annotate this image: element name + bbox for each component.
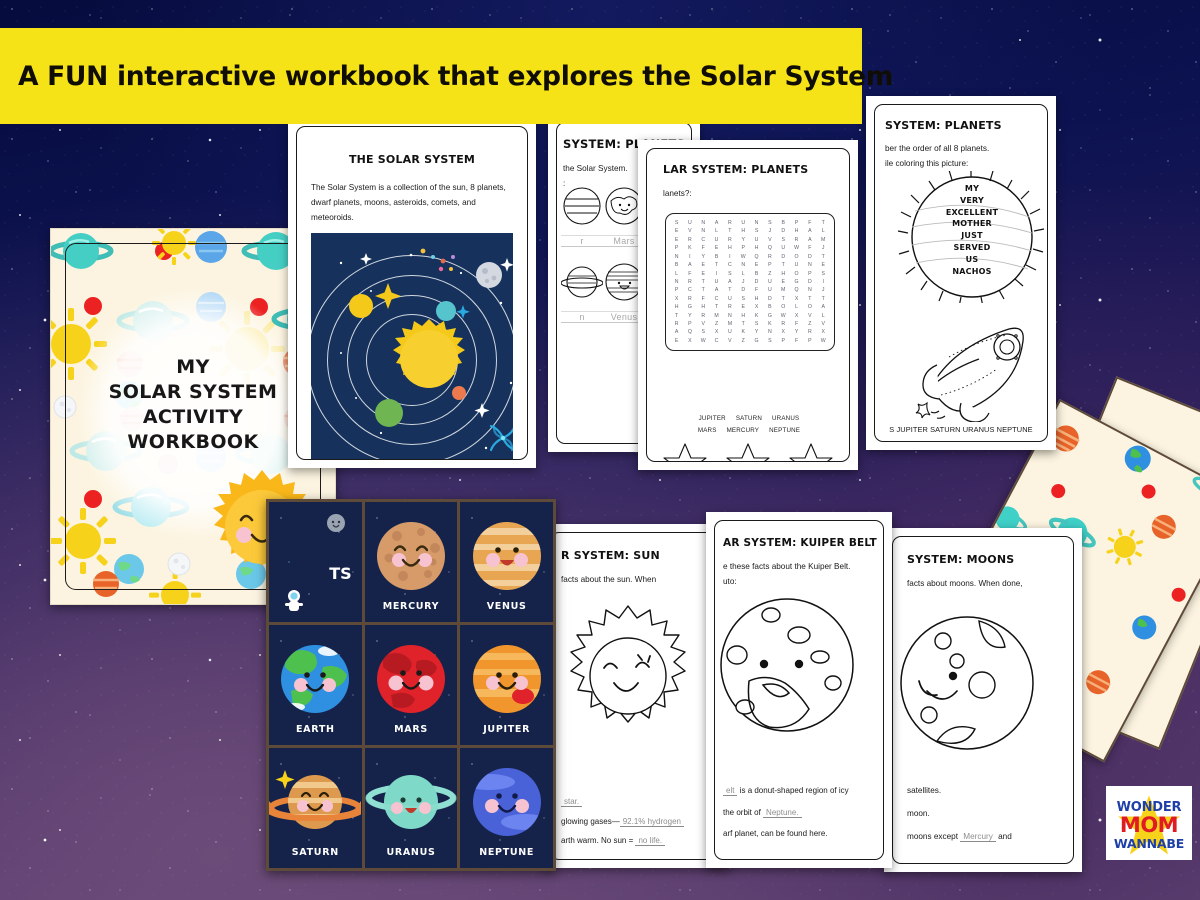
word-search-letter[interactable]: H: [737, 312, 750, 320]
word-search-letter[interactable]: S: [750, 320, 763, 328]
word-search-letter[interactable]: D: [803, 253, 816, 261]
word-search-letter[interactable]: F: [697, 295, 710, 303]
planet-cards-partial-title: TS: [329, 564, 351, 583]
wonder-mom-wannabe-logo[interactable]: WONDER MOM WANNABE: [1106, 786, 1192, 860]
word-search-letter[interactable]: Z: [803, 320, 816, 328]
word-search-letter[interactable]: D: [803, 278, 816, 286]
word-bank-word: NEPTUNE: [769, 427, 800, 434]
word-search-letter[interactable]: C: [697, 236, 710, 244]
word-search-letter[interactable]: S: [737, 295, 750, 303]
word-search-letter[interactable]: Y: [683, 312, 696, 320]
planet-card-neptune[interactable]: NEPTUNE: [460, 748, 553, 868]
word-search-letter[interactable]: P: [737, 244, 750, 252]
word-search-letter[interactable]: U: [723, 295, 736, 303]
trace-cell[interactable]: r: [561, 185, 603, 247]
worksheet-sun[interactable]: R SYSTEM: SUN facts about the sun. When …: [542, 524, 730, 868]
kuiper-fact-1: elt is a donut-shaped region of icy: [723, 780, 877, 802]
planet-card-saturn[interactable]: SATURN: [269, 748, 362, 868]
word-search-letter[interactable]: W: [817, 337, 830, 345]
worksheet-moons-facts: satellites. moon. moons except Mercury a…: [907, 780, 1065, 849]
worksheet-sun-frame: R SYSTEM: SUN facts about the sun. When …: [550, 532, 722, 860]
word-search-letter[interactable]: I: [817, 278, 830, 286]
saturn-planet-icon: [269, 764, 361, 840]
word-search-letter[interactable]: N: [697, 219, 710, 227]
worksheet-solar-system-title: THE SOLAR SYSTEM: [297, 153, 527, 166]
logo-line-mom: MOM: [1106, 813, 1192, 837]
worksheet-word-search-frame: LAR SYSTEM: PLANETS lanets?: SUNARUNSBPF…: [646, 148, 850, 462]
worksheet-moons-instruction: facts about moons. When done,: [893, 566, 1073, 591]
word-search-letter[interactable]: P: [777, 337, 790, 345]
planet-card-label: MERCURY: [365, 601, 458, 612]
word-search-letter[interactable]: F: [803, 244, 816, 252]
word-search-box[interactable]: SUNARUNSBPFTEVNLTHSJDHALERCURYUVSRAMPKFE…: [665, 213, 835, 351]
word-search-letter[interactable]: T: [710, 261, 723, 269]
word-search-letter[interactable]: M: [817, 236, 830, 244]
word-search-letter[interactable]: M: [777, 286, 790, 294]
planet-cards-title-cell: TS: [269, 502, 362, 622]
mnemonic-word: US: [897, 254, 1047, 266]
word-search-letter[interactable]: H: [750, 295, 763, 303]
word-search-letter[interactable]: L: [670, 270, 683, 278]
worksheet-moons-title: SYSTEM: MOONS: [893, 553, 1073, 566]
word-search-letter[interactable]: U: [710, 236, 723, 244]
word-search-letter[interactable]: Y: [697, 253, 710, 261]
word-search-letter[interactable]: I: [710, 270, 723, 278]
word-search-letter[interactable]: A: [723, 278, 736, 286]
word-search-letter[interactable]: H: [750, 244, 763, 252]
word-search-letter[interactable]: N: [737, 261, 750, 269]
word-search-letter[interactable]: N: [723, 312, 736, 320]
word-search-letter[interactable]: N: [803, 261, 816, 269]
word-search-letter[interactable]: Y: [750, 328, 763, 336]
word-search-letter[interactable]: M: [723, 320, 736, 328]
moons-fact-3-blank[interactable]: Mercury: [960, 832, 996, 842]
worksheet-sun-instruction: facts about the sun. When: [551, 562, 721, 587]
word-search-letter[interactable]: F: [790, 337, 803, 345]
word-search-letter[interactable]: C: [683, 286, 696, 294]
moon-icon: [325, 512, 347, 534]
word-search-letter[interactable]: X: [817, 328, 830, 336]
word-search-letter[interactable]: S: [777, 236, 790, 244]
word-search-letter[interactable]: S: [817, 270, 830, 278]
word-search-letter[interactable]: K: [737, 328, 750, 336]
word-search-letter[interactable]: R: [723, 236, 736, 244]
word-search-letter[interactable]: E: [697, 261, 710, 269]
word-search-letter[interactable]: S: [723, 270, 736, 278]
word-search-letter[interactable]: R: [763, 253, 776, 261]
word-search-letter[interactable]: V: [763, 236, 776, 244]
word-search-letter[interactable]: H: [790, 227, 803, 235]
word-search-letter[interactable]: T: [817, 219, 830, 227]
worksheet-sun-title: R SYSTEM: SUN: [551, 549, 721, 562]
word-search-letter[interactable]: M: [710, 312, 723, 320]
star-icon[interactable]: [726, 441, 770, 462]
word-search-letter[interactable]: T: [803, 295, 816, 303]
word-search-letter[interactable]: T: [817, 295, 830, 303]
word-search-letter[interactable]: Y: [737, 236, 750, 244]
word-bank-word: MERCURY: [727, 427, 760, 434]
word-search-letter[interactable]: B: [710, 253, 723, 261]
mnemonic-word: SERVED: [897, 242, 1047, 254]
star-rating-row[interactable]: [647, 441, 849, 462]
planet-card-label: EARTH: [269, 724, 362, 735]
planet-cards-grid[interactable]: MERCURY VENUS: [266, 499, 556, 871]
worksheet-mnemonic-title: SYSTEM: PLANETS: [875, 119, 1047, 132]
word-search-letter[interactable]: T: [697, 286, 710, 294]
kuiper-fact-1-blank[interactable]: elt: [723, 786, 737, 796]
word-search-letter[interactable]: C: [710, 337, 723, 345]
word-search-letter[interactable]: U: [750, 236, 763, 244]
word-search-letter[interactable]: S: [750, 227, 763, 235]
word-search-letter[interactable]: R: [683, 236, 696, 244]
word-search-letter[interactable]: V: [683, 227, 696, 235]
word-search-grid[interactable]: SUNARUNSBPFTEVNLTHSJDHALERCURYUVSRAMPKFE…: [670, 219, 830, 345]
word-search-letter[interactable]: C: [723, 261, 736, 269]
word-search-letter[interactable]: R: [723, 219, 736, 227]
word-search-letter[interactable]: R: [803, 328, 816, 336]
word-search-letter[interactable]: I: [723, 253, 736, 261]
word-search-letter[interactable]: P: [670, 244, 683, 252]
planet-card-mars[interactable]: MARS: [365, 625, 458, 745]
word-search-letter[interactable]: A: [803, 227, 816, 235]
word-search-letter[interactable]: J: [817, 286, 830, 294]
mnemonic-planet-illustration: MY VERY EXCELLENT MOTHER JUST SERVED US …: [897, 171, 1047, 303]
word-search-letter[interactable]: S: [697, 328, 710, 336]
word-search-letter[interactable]: F: [683, 270, 696, 278]
headline-banner: A FUN interactive workbook that explores…: [0, 28, 862, 124]
word-search-letter[interactable]: P: [670, 286, 683, 294]
word-search-letter[interactable]: B: [777, 219, 790, 227]
word-search-letter[interactable]: X: [790, 295, 803, 303]
kuiper-fact-2-blank[interactable]: Neptune.: [763, 808, 801, 818]
planet-card-label: SATURN: [269, 847, 362, 858]
word-search-letter[interactable]: H: [670, 303, 683, 311]
moons-fact-3: moons except Mercury and: [907, 826, 1065, 849]
word-search-letter[interactable]: X: [750, 303, 763, 311]
kuiper-fact-2: the orbit of Neptune.: [723, 802, 877, 824]
word-search-letter[interactable]: J: [737, 278, 750, 286]
word-bank-word: JUPITER: [699, 415, 726, 422]
word-search-letter[interactable]: G: [750, 337, 763, 345]
word-search-letter[interactable]: D: [777, 227, 790, 235]
planet-card-jupiter[interactable]: JUPITER: [460, 625, 553, 745]
word-search-letter[interactable]: E: [670, 236, 683, 244]
word-search-letter[interactable]: D: [737, 286, 750, 294]
word-search-letter[interactable]: J: [817, 244, 830, 252]
word-search-letter[interactable]: J: [763, 227, 776, 235]
word-search-letter[interactable]: E: [710, 244, 723, 252]
astronaut-icon: [283, 588, 305, 614]
trace-label: r: [561, 235, 603, 247]
word-search-letter[interactable]: X: [777, 328, 790, 336]
word-search-letter[interactable]: H: [697, 303, 710, 311]
word-search-letter[interactable]: X: [710, 328, 723, 336]
word-search-letter[interactable]: O: [790, 270, 803, 278]
word-search-letter[interactable]: A: [710, 219, 723, 227]
word-search-letter[interactable]: B: [763, 303, 776, 311]
planet-card-label: JUPITER: [460, 724, 553, 735]
worksheet-solar-system-paragraph-1: The Solar System is a collection of the …: [311, 180, 513, 226]
mnemonic-word: EXCELLENT: [897, 207, 1047, 219]
word-search-letter[interactable]: U: [763, 278, 776, 286]
word-search-letter[interactable]: L: [710, 227, 723, 235]
word-bank-row-2: MARSMERCURYNEPTUNE: [657, 425, 841, 437]
sun-fact-2-blank[interactable]: 92.1% hydrogen: [620, 817, 684, 827]
word-search-letter[interactable]: K: [763, 320, 776, 328]
logo-line-wannabe: WANNABE: [1106, 836, 1192, 851]
word-search-letter[interactable]: Q: [750, 253, 763, 261]
word-search-letter[interactable]: N: [763, 328, 776, 336]
word-search-letter[interactable]: R: [670, 320, 683, 328]
rocket-icon: [901, 317, 1048, 422]
word-search-letter[interactable]: O: [790, 253, 803, 261]
jupiter-planet-icon: [469, 641, 545, 717]
word-search-letter[interactable]: R: [697, 312, 710, 320]
word-search-letter[interactable]: Q: [683, 328, 696, 336]
sun-fact-2-prefix: glowing gases—: [561, 817, 620, 826]
word-bank-word: MARS: [698, 427, 717, 434]
earth-planet-icon: [277, 641, 353, 717]
word-search-letter[interactable]: C: [710, 295, 723, 303]
word-search-letter[interactable]: D: [777, 253, 790, 261]
uranus-planet-icon: [365, 764, 457, 840]
planet-card-mercury[interactable]: MERCURY: [365, 502, 458, 622]
word-search-word-bank: JUPITERSATURNURANUS MARSMERCURYNEPTUNE: [657, 413, 841, 437]
word-search-letter[interactable]: T: [670, 312, 683, 320]
word-search-letter[interactable]: A: [683, 261, 696, 269]
saturn-outline-icon: [561, 261, 603, 303]
word-search-letter[interactable]: A: [710, 286, 723, 294]
kuiper-fact-1-text: is a donut-shaped region of icy: [740, 786, 849, 795]
mars-planet-icon: [373, 641, 449, 717]
word-search-letter[interactable]: P: [683, 320, 696, 328]
worksheet-kuiper-belt[interactable]: AR SYSTEM: KUIPER BELT e these facts abo…: [706, 512, 892, 868]
word-search-letter[interactable]: N: [670, 278, 683, 286]
word-search-letter[interactable]: S: [670, 219, 683, 227]
trace-cell[interactable]: n: [561, 261, 603, 323]
word-search-letter[interactable]: E: [750, 261, 763, 269]
word-search-letter[interactable]: P: [763, 261, 776, 269]
planet-card-label: URANUS: [365, 847, 458, 858]
word-search-letter[interactable]: S: [763, 337, 776, 345]
word-search-letter[interactable]: R: [683, 278, 696, 286]
solar-illustration-bodies: [311, 233, 513, 459]
word-search-letter[interactable]: Z: [710, 320, 723, 328]
planet-outline-icon: [561, 185, 603, 227]
word-search-letter[interactable]: R: [723, 303, 736, 311]
word-search-letter[interactable]: G: [763, 312, 776, 320]
word-search-letter[interactable]: A: [670, 328, 683, 336]
word-search-letter[interactable]: N: [697, 227, 710, 235]
moons-fact-3-prefix: moons except: [907, 832, 958, 841]
word-search-letter[interactable]: B: [670, 261, 683, 269]
word-search-letter[interactable]: W: [790, 244, 803, 252]
word-search-letter[interactable]: U: [723, 328, 736, 336]
worksheet-mnemonic-frame: SYSTEM: PLANETS ber the order of all 8 p…: [874, 104, 1048, 442]
word-search-letter[interactable]: X: [683, 337, 696, 345]
word-search-letter[interactable]: L: [817, 227, 830, 235]
worksheet-mnemonic-footer: S JUPITER SATURN URANUS NEPTUNE: [875, 425, 1047, 434]
smiling-moon-icon: [892, 603, 1052, 763]
worksheet-sun-facts: star. glowing gases—92.1% hydrogen arth …: [561, 792, 711, 851]
word-search-letter[interactable]: N: [803, 286, 816, 294]
word-search-letter[interactable]: U: [737, 219, 750, 227]
word-search-letter[interactable]: W: [777, 312, 790, 320]
word-search-letter[interactable]: K: [750, 312, 763, 320]
word-search-letter[interactable]: G: [790, 278, 803, 286]
word-search-letter[interactable]: D: [763, 295, 776, 303]
word-search-letter[interactable]: R: [790, 236, 803, 244]
mnemonic-word: MOTHER: [897, 218, 1047, 230]
word-search-letter[interactable]: V: [803, 312, 816, 320]
worksheet-kuiper-instruction-1: e these facts about the Kuiper Belt.: [715, 549, 883, 574]
word-search-letter[interactable]: E: [817, 261, 830, 269]
mercury-planet-icon: [373, 518, 449, 594]
word-search-letter[interactable]: H: [723, 244, 736, 252]
word-search-letter[interactable]: L: [817, 312, 830, 320]
word-search-letter[interactable]: H: [777, 270, 790, 278]
word-search-letter[interactable]: F: [750, 286, 763, 294]
screenshot-stage: A FUN interactive workbook that explores…: [0, 0, 1200, 900]
word-search-letter[interactable]: A: [803, 236, 816, 244]
word-search-letter[interactable]: X: [790, 312, 803, 320]
word-search-letter[interactable]: T: [723, 227, 736, 235]
word-search-letter[interactable]: F: [790, 320, 803, 328]
worksheet-mnemonic[interactable]: SYSTEM: PLANETS ber the order of all 8 p…: [866, 96, 1056, 450]
word-search-letter[interactable]: U: [710, 278, 723, 286]
sun-fact-1: star.: [561, 792, 711, 812]
worksheet-solar-system-frame: THE SOLAR SYSTEM The Solar System is a c…: [296, 126, 528, 460]
planet-card-label: NEPTUNE: [460, 847, 553, 858]
kuiper-fact-3: arf planet, can be found here.: [723, 823, 877, 845]
word-search-letter[interactable]: E: [697, 270, 710, 278]
worksheet-word-search-instruction: lanets?:: [647, 176, 849, 201]
word-search-letter[interactable]: I: [683, 253, 696, 261]
word-search-letter[interactable]: V: [723, 337, 736, 345]
word-search-letter[interactable]: U: [763, 286, 776, 294]
mnemonic-word: VERY: [897, 195, 1047, 207]
word-bank-word: URANUS: [772, 415, 799, 422]
planet-card-venus[interactable]: VENUS: [460, 502, 553, 622]
worksheet-solar-system[interactable]: THE SOLAR SYSTEM The Solar System is a c…: [288, 118, 536, 468]
word-search-letter[interactable]: R: [777, 320, 790, 328]
word-search-letter[interactable]: U: [777, 244, 790, 252]
worksheet-mnemonic-instruction-2: ile coloring this picture:: [875, 156, 1047, 171]
neptune-planet-icon: [469, 764, 545, 840]
word-search-letter[interactable]: S: [763, 219, 776, 227]
word-search-letter[interactable]: T: [777, 261, 790, 269]
word-search-letter[interactable]: L: [790, 303, 803, 311]
word-search-letter[interactable]: Y: [790, 328, 803, 336]
mnemonic-word-list: MY VERY EXCELLENT MOTHER JUST SERVED US …: [897, 183, 1047, 278]
word-search-letter[interactable]: N: [670, 253, 683, 261]
word-search-letter[interactable]: H: [737, 227, 750, 235]
word-bank-row-1: JUPITERSATURNURANUS: [657, 413, 841, 425]
word-search-letter[interactable]: E: [670, 337, 683, 345]
trace-label: n: [561, 311, 603, 323]
star-icon[interactable]: [663, 441, 707, 462]
word-search-letter[interactable]: O: [803, 303, 816, 311]
word-search-letter[interactable]: W: [737, 253, 750, 261]
word-search-letter[interactable]: Q: [763, 244, 776, 252]
word-search-letter[interactable]: D: [750, 278, 763, 286]
word-search-letter[interactable]: F: [803, 219, 816, 227]
moons-fact-1: satellites.: [907, 780, 1065, 803]
smiling-sun-outline-icon: [553, 601, 703, 751]
word-search-letter[interactable]: T: [697, 278, 710, 286]
worksheet-word-search-title: LAR SYSTEM: PLANETS: [647, 163, 849, 176]
worksheet-mnemonic-instruction-1: ber the order of all 8 planets.: [875, 132, 1047, 156]
planet-card-label: MARS: [365, 724, 458, 735]
moons-fact-3-suffix: and: [998, 832, 1012, 841]
worksheet-word-search[interactable]: LAR SYSTEM: PLANETS lanets?: SUNARUNSBPF…: [638, 140, 858, 470]
word-search-letter[interactable]: P: [803, 337, 816, 345]
sun-fact-3-prefix: arth warm. No sun =: [561, 836, 635, 845]
smiling-dwarf-planet-icon: [714, 585, 867, 745]
word-search-letter[interactable]: V: [697, 320, 710, 328]
word-search-letter[interactable]: P: [803, 270, 816, 278]
worksheet-moons-frame: SYSTEM: MOONS facts about moons. When do…: [892, 536, 1074, 864]
mnemonic-word: MY: [897, 183, 1047, 195]
mnemonic-word: NACHOS: [897, 266, 1047, 278]
sun-fact-2: glowing gases—92.1% hydrogen: [561, 812, 711, 832]
word-search-letter[interactable]: U: [683, 219, 696, 227]
word-search-letter[interactable]: N: [750, 219, 763, 227]
word-search-letter[interactable]: R: [683, 295, 696, 303]
headline-text: A FUN interactive workbook that explores…: [18, 61, 893, 92]
planet-card-label: VENUS: [460, 601, 553, 612]
word-search-letter[interactable]: E: [737, 303, 750, 311]
word-search-letter[interactable]: B: [750, 270, 763, 278]
word-search-letter[interactable]: P: [790, 219, 803, 227]
worksheet-kuiper-belt-title: AR SYSTEM: KUIPER BELT: [715, 537, 883, 549]
word-search-letter[interactable]: T: [723, 286, 736, 294]
solar-system-illustration: [311, 233, 513, 459]
word-search-letter[interactable]: Z: [763, 270, 776, 278]
word-search-letter[interactable]: Z: [737, 337, 750, 345]
worksheet-moons[interactable]: SYSTEM: MOONS facts about moons. When do…: [884, 528, 1082, 872]
planet-card-uranus[interactable]: URANUS: [365, 748, 458, 868]
word-search-letter[interactable]: E: [670, 227, 683, 235]
word-search-letter[interactable]: T: [817, 253, 830, 261]
word-search-letter[interactable]: G: [683, 303, 696, 311]
word-search-letter[interactable]: T: [710, 303, 723, 311]
word-search-letter[interactable]: A: [817, 303, 830, 311]
worksheet-kuiper-belt-frame: AR SYSTEM: KUIPER BELT e these facts abo…: [714, 520, 884, 860]
word-search-letter[interactable]: T: [777, 295, 790, 303]
mnemonic-word: JUST: [897, 230, 1047, 242]
word-search-letter[interactable]: V: [817, 320, 830, 328]
sun-fact-3: arth warm. No sun = no life.: [561, 831, 711, 851]
word-search-letter[interactable]: E: [777, 278, 790, 286]
word-search-letter[interactable]: T: [737, 320, 750, 328]
word-search-letter[interactable]: Q: [790, 286, 803, 294]
word-search-letter[interactable]: K: [683, 244, 696, 252]
star-icon[interactable]: [789, 441, 833, 462]
word-search-letter[interactable]: F: [697, 244, 710, 252]
word-search-letter[interactable]: W: [697, 337, 710, 345]
sun-fact-1-blank[interactable]: star.: [561, 797, 582, 807]
kuiper-fact-2-prefix: the orbit of: [723, 808, 761, 817]
word-search-letter[interactable]: O: [777, 303, 790, 311]
word-search-letter[interactable]: L: [737, 270, 750, 278]
word-search-letter[interactable]: X: [670, 295, 683, 303]
planet-card-earth[interactable]: EARTH: [269, 625, 362, 745]
moons-fact-2: moon.: [907, 803, 1065, 826]
venus-planet-icon: [469, 518, 545, 594]
sun-fact-3-blank[interactable]: no life.: [635, 836, 665, 846]
word-search-letter[interactable]: U: [790, 261, 803, 269]
